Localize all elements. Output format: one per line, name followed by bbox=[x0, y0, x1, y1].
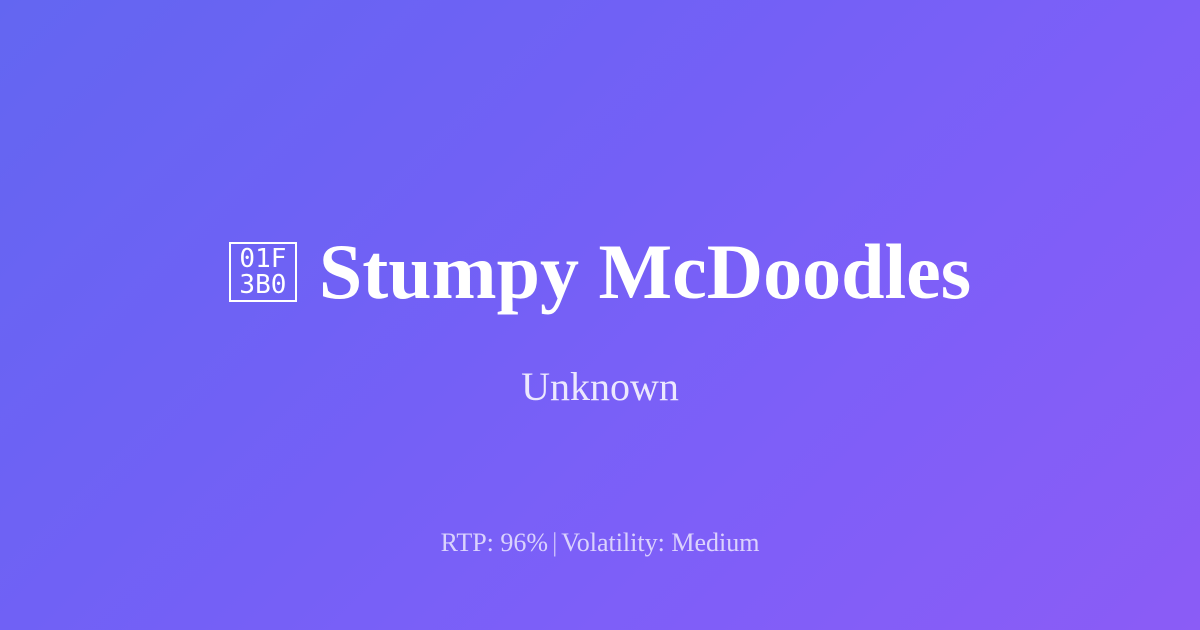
volatility-value: Volatility: Medium bbox=[561, 528, 759, 557]
card-meta: RTP: 96%|Volatility: Medium bbox=[0, 527, 1200, 558]
share-card: 01F 3B0 Stumpy McDoodles Unknown RTP: 96… bbox=[0, 0, 1200, 630]
title-row: 01F 3B0 Stumpy McDoodles bbox=[0, 231, 1200, 313]
slot-machine-icon: 01F 3B0 bbox=[229, 242, 297, 302]
tofu-codepoint-bottom: 3B0 bbox=[239, 272, 286, 298]
tofu-codepoint-top: 01F bbox=[239, 246, 286, 272]
rtp-value: RTP: 96% bbox=[441, 528, 549, 557]
card-subtitle: Unknown bbox=[0, 363, 1200, 411]
meta-separator: | bbox=[548, 528, 561, 557]
page-title: Stumpy McDoodles bbox=[319, 231, 971, 313]
